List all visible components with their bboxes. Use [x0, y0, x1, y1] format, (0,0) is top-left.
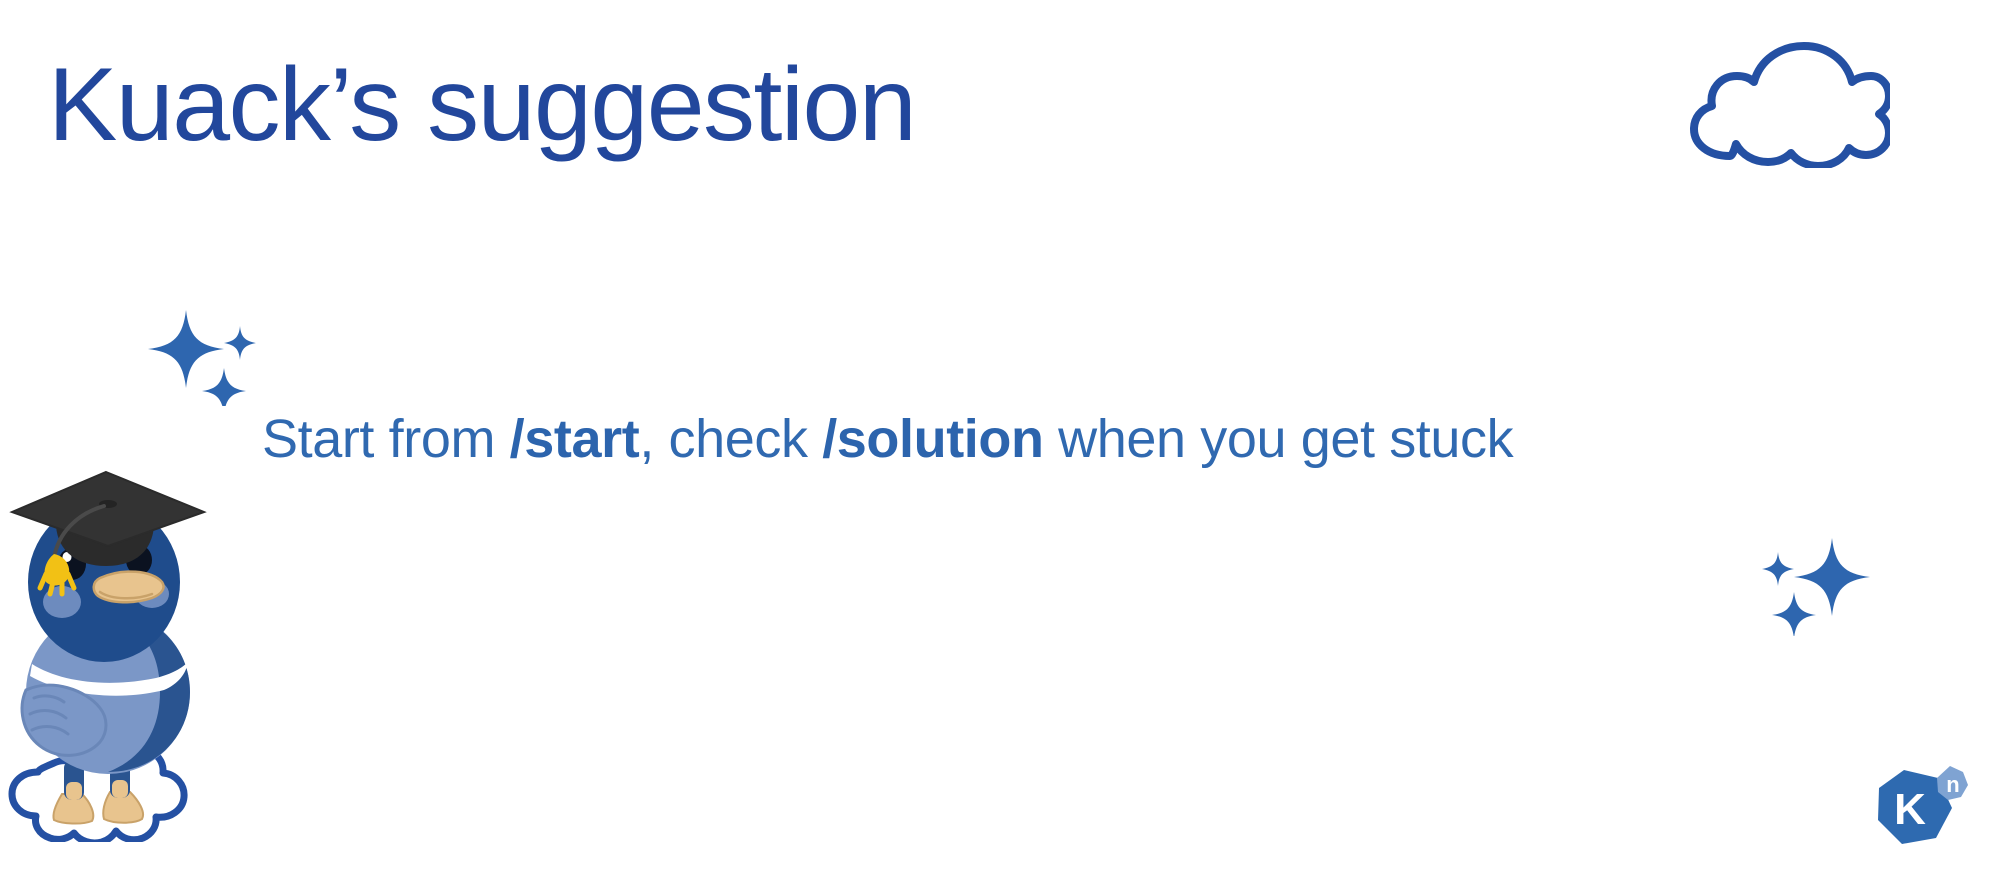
sparkles-icon-right — [1758, 528, 1876, 636]
cloud-outline-icon — [1668, 28, 1890, 168]
body-instruction-text: Start from /start, check /solution when … — [262, 408, 1513, 470]
command-solution: /solution — [822, 409, 1043, 469]
body-segment-5: when you get stuck — [1044, 409, 1514, 469]
logo-letter-k: K — [1894, 785, 1926, 834]
sparkles-icon-left — [140, 296, 260, 406]
duck-mascot-graduation-cap-icon — [0, 442, 232, 842]
body-segment-1: Start from — [262, 409, 510, 469]
command-start: /start — [510, 409, 640, 469]
logo-letter-n: n — [1946, 772, 1959, 797]
body-segment-3: , check — [639, 409, 822, 469]
page-title: Kuack’s suggestion — [48, 47, 915, 163]
brand-logo[interactable]: K n — [1866, 762, 1970, 858]
slide-root: Kuack’s suggestion Start from /start, — [0, 0, 1999, 878]
